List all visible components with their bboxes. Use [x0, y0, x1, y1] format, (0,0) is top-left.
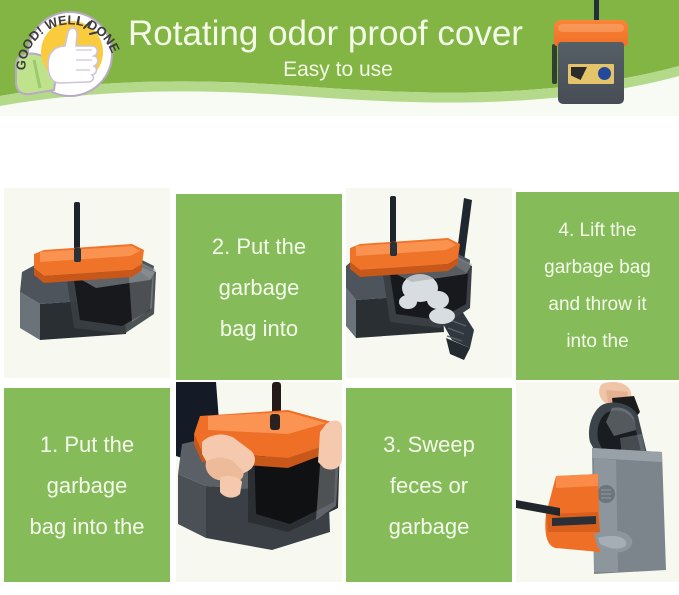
step-2-line-1: 2. Put the	[212, 226, 306, 267]
product-side-bar	[552, 44, 557, 84]
step-3-line-3: garbage	[389, 506, 470, 547]
product-body	[558, 42, 624, 104]
step-4-line-2: garbage bag	[544, 249, 651, 286]
step-2-line-2: garbage	[219, 267, 300, 308]
page-subtitle: Easy to use	[128, 58, 548, 82]
hero-product-image	[548, 0, 634, 112]
step-3-line-2: feces or	[390, 465, 468, 506]
step-1-line-1: 1. Put the	[40, 424, 134, 465]
step-3-photo	[346, 188, 512, 378]
product-label	[568, 64, 614, 84]
step-2-line-3: bag into	[220, 308, 298, 349]
step-1-photo	[4, 188, 170, 378]
step-3-panel: 3. Sweep feces or garbage	[346, 388, 512, 582]
product-label-mark	[571, 67, 587, 80]
photo-sweeping-debris	[346, 188, 512, 378]
step-4-line-4: into the	[566, 323, 628, 360]
good-well-done-badge: GOOD! WELL DONE	[10, 4, 128, 106]
photo-hands-inserting-bag	[176, 382, 342, 582]
step-1-line-3: bag into the	[30, 506, 145, 547]
photo-lifting-bag-out	[516, 382, 679, 582]
steps-grid: 2. Put the garbage bag into	[0, 188, 679, 595]
photo-dustpan-with-bag	[4, 188, 170, 378]
page-title: Rotating odor proof cover	[128, 14, 548, 54]
header-banner: GOOD! WELL DONE Rotating odor proof cove…	[0, 0, 679, 116]
product-handle	[594, 0, 599, 22]
step-4-line-1: 4. Lift the	[558, 212, 636, 249]
step-2-panel: 2. Put the garbage bag into	[176, 194, 342, 380]
step-3-line-1: 3. Sweep	[383, 424, 475, 465]
step-4-photo	[516, 382, 679, 582]
step-2-photo	[176, 382, 342, 582]
step-1-panel: 1. Put the garbage bag into the	[4, 388, 170, 582]
step-4-line-3: and throw it	[548, 286, 646, 323]
step-1-line-2: garbage	[47, 465, 128, 506]
step-4-panel: 4. Lift the garbage bag and throw it int…	[516, 192, 679, 380]
infographic-page: GOOD! WELL DONE Rotating odor proof cove…	[0, 0, 679, 595]
product-label-dot	[598, 67, 611, 80]
